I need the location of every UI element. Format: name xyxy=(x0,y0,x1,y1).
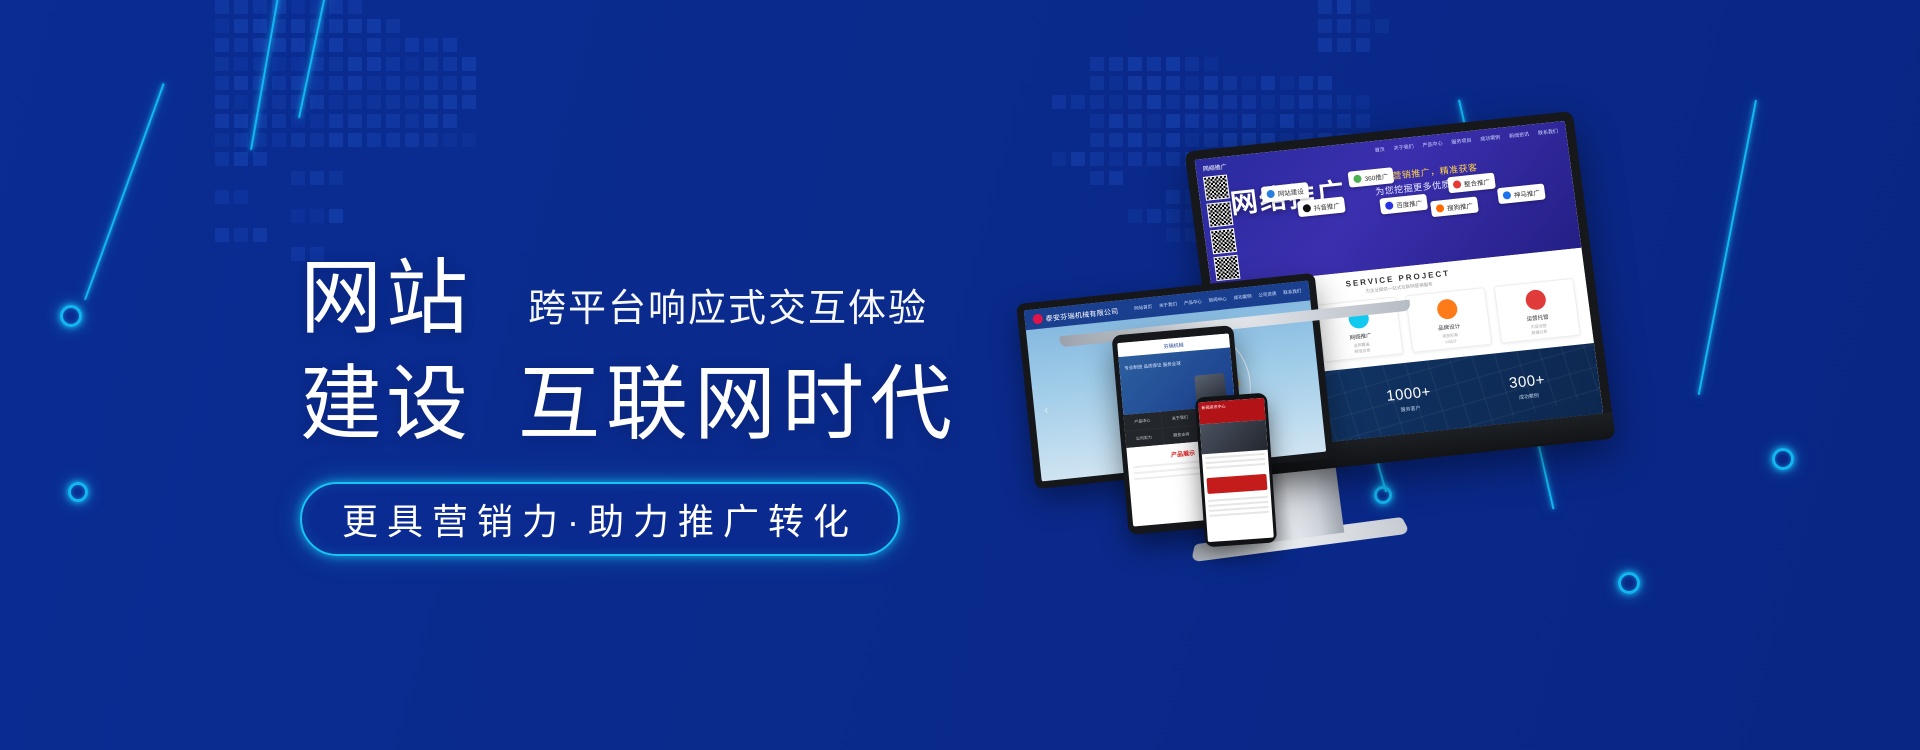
map-dot xyxy=(253,19,267,33)
platform-chip[interactable]: 整合推广 xyxy=(1447,173,1496,194)
map-dot xyxy=(367,76,381,90)
qr-code xyxy=(1213,255,1240,281)
map-dot xyxy=(272,38,286,52)
map-dot xyxy=(1318,0,1332,14)
headline-row-1: 网站 跨平台响应式交互体验 xyxy=(300,258,1060,340)
site-nav[interactable]: 首页关于我们产品中心服务项目成功案例新闻资讯联系我们 xyxy=(1374,128,1558,154)
tablet-tile[interactable]: 服务支持 xyxy=(1162,425,1200,444)
map-dot xyxy=(215,114,229,128)
map-dot xyxy=(1223,95,1237,109)
map-dot xyxy=(329,38,343,52)
phone-screen: 新闻资讯中心 xyxy=(1198,398,1274,542)
stat-value: 300+ xyxy=(1508,371,1546,392)
map-dot xyxy=(1337,38,1351,52)
map-dot xyxy=(1280,114,1294,128)
map-dot xyxy=(367,95,381,109)
map-dot xyxy=(443,95,457,109)
stat-label: 服务客户 xyxy=(1388,403,1433,415)
site-nav-item[interactable]: 首页 xyxy=(1374,146,1385,154)
phone-cta-block[interactable] xyxy=(1206,474,1267,494)
map-dot xyxy=(253,228,267,242)
qr-code xyxy=(1203,174,1230,200)
map-dot xyxy=(405,38,419,52)
map-dot xyxy=(329,19,343,33)
map-dot xyxy=(462,133,476,147)
map-dot xyxy=(1147,57,1161,71)
map-dot xyxy=(253,133,267,147)
laptop-menu-item[interactable]: 关于我们 xyxy=(1159,301,1178,309)
map-dot xyxy=(424,57,438,71)
map-dot xyxy=(329,133,343,147)
map-dot xyxy=(367,57,381,71)
tablet-tile[interactable]: 关于我们 xyxy=(1161,408,1199,427)
map-dot xyxy=(1337,95,1351,109)
map-dot xyxy=(310,19,324,33)
map-dot xyxy=(253,0,267,14)
map-dot xyxy=(1356,0,1370,14)
map-dot xyxy=(291,209,305,223)
map-dot xyxy=(253,114,267,128)
map-dot xyxy=(272,0,286,14)
map-dot xyxy=(424,76,438,90)
map-dot xyxy=(234,190,248,204)
map-dot xyxy=(272,19,286,33)
map-dot xyxy=(1356,95,1370,109)
map-dot xyxy=(386,19,400,33)
map-dot xyxy=(424,95,438,109)
phone-text-line xyxy=(1209,511,1269,517)
platform-chip-label: 神马推广 xyxy=(1513,187,1540,200)
site-nav-item[interactable]: 服务项目 xyxy=(1451,137,1472,146)
map-dot xyxy=(1147,76,1161,90)
map-dot xyxy=(443,114,457,128)
map-dot xyxy=(1204,76,1218,90)
platform-chip-icon xyxy=(1353,174,1362,183)
tagline-text: 更具营销力·助力推广转化 xyxy=(342,493,858,545)
platform-chip[interactable]: 抖音推广 xyxy=(1297,196,1346,217)
map-dot xyxy=(291,171,305,185)
map-dot xyxy=(386,76,400,90)
map-dot xyxy=(348,0,362,14)
map-dot xyxy=(1337,19,1351,33)
map-dot xyxy=(329,76,343,90)
map-dot xyxy=(253,76,267,90)
map-dot xyxy=(1204,57,1218,71)
map-dot xyxy=(329,209,343,223)
map-dot xyxy=(405,133,419,147)
map-dot xyxy=(1299,95,1313,109)
map-dot xyxy=(367,133,381,147)
tablet-hero-text: 专业制造 品质保证 服务全球 xyxy=(1124,360,1181,373)
map-dot xyxy=(1356,19,1370,33)
map-dot xyxy=(1204,114,1218,128)
map-dot xyxy=(405,114,419,128)
map-dot xyxy=(291,95,305,109)
map-dot xyxy=(1128,76,1142,90)
map-dot xyxy=(386,114,400,128)
map-dot xyxy=(1109,57,1123,71)
platform-chip-icon xyxy=(1385,201,1394,210)
map-dot xyxy=(310,114,324,128)
map-dot xyxy=(291,114,305,128)
laptop-menu-item[interactable]: 公司资质 xyxy=(1258,291,1277,299)
platform-chip-icon xyxy=(1502,191,1511,200)
map-dot xyxy=(1090,57,1104,71)
map-dot xyxy=(1261,114,1275,128)
map-dot xyxy=(310,76,324,90)
map-dot xyxy=(367,19,381,33)
map-dot xyxy=(310,171,324,185)
platform-chip-label: 百度推广 xyxy=(1396,197,1423,210)
map-dot xyxy=(1147,114,1161,128)
map-dot xyxy=(310,209,324,223)
map-dot xyxy=(234,152,248,166)
map-dot xyxy=(215,228,229,242)
map-dot xyxy=(215,133,229,147)
map-dot xyxy=(1185,76,1199,90)
map-dot xyxy=(1185,114,1199,128)
map-dot xyxy=(272,114,286,128)
phone-content-rows xyxy=(1205,493,1273,524)
map-dot xyxy=(1318,38,1332,52)
map-dot xyxy=(462,57,476,71)
map-dot xyxy=(234,57,248,71)
map-dot xyxy=(215,190,229,204)
map-dot xyxy=(1242,76,1256,90)
tablet-tile[interactable]: 公司实力 xyxy=(1125,429,1163,448)
map-dot xyxy=(443,76,457,90)
map-dot xyxy=(291,133,305,147)
map-dot xyxy=(291,19,305,33)
site-nav-item[interactable]: 产品中心 xyxy=(1422,140,1443,149)
map-dot xyxy=(1090,76,1104,90)
site-nav-item[interactable]: 成功案例 xyxy=(1480,134,1501,143)
phone-device: 新闻资讯中心 xyxy=(1195,393,1277,548)
map-dot xyxy=(348,19,362,33)
map-dot xyxy=(1052,152,1066,166)
map-dot xyxy=(1280,76,1294,90)
hero-copy: 网站 跨平台响应式交互体验 建设 互联网时代 更具营销力·助力推广转化 xyxy=(300,258,1060,556)
map-dot xyxy=(1261,76,1275,90)
map-dot xyxy=(253,152,267,166)
map-dot xyxy=(443,133,457,147)
service-card[interactable]: 品牌设计视觉形象 VI设计 xyxy=(1405,287,1492,353)
platform-chip-icon xyxy=(1453,180,1462,189)
map-dot xyxy=(424,114,438,128)
map-dot xyxy=(1261,95,1275,109)
platform-chip-icon xyxy=(1302,204,1311,213)
platform-chip-icon xyxy=(1266,190,1275,199)
map-dot xyxy=(272,95,286,109)
map-dot xyxy=(234,38,248,52)
service-card-icon xyxy=(1435,298,1458,320)
map-dot xyxy=(1166,95,1180,109)
map-dot xyxy=(1299,114,1313,128)
map-dot xyxy=(1147,95,1161,109)
platform-chip-icon xyxy=(1436,204,1445,213)
map-dot xyxy=(1166,57,1180,71)
headline-line-1: 网站 xyxy=(300,258,472,340)
laptop-menu-item[interactable]: 网站首页 xyxy=(1134,304,1153,312)
map-dot xyxy=(1128,95,1142,109)
map-dot xyxy=(215,57,229,71)
map-dot xyxy=(234,228,248,242)
qr-code xyxy=(1210,228,1237,254)
map-dot xyxy=(253,95,267,109)
stat-item: 1000+服务客户 xyxy=(1385,383,1433,414)
map-dot xyxy=(1356,114,1370,128)
map-dot xyxy=(1356,38,1370,52)
phone-image xyxy=(1200,420,1268,455)
device-mockup-cluster: 网络推广 首页关于我们产品中心服务项目成功案例新闻资讯联系我们 网络推广 全网营… xyxy=(1085,130,1515,590)
map-dot xyxy=(310,0,324,14)
map-dot xyxy=(234,0,248,14)
map-dot xyxy=(253,38,267,52)
map-dot xyxy=(1318,114,1332,128)
headline-row-2: 建设 互联网时代 xyxy=(300,364,1060,446)
map-dot xyxy=(215,0,229,14)
map-dot xyxy=(1337,114,1351,128)
hero-banner: 网站 跨平台响应式交互体验 建设 互联网时代 更具营销力·助力推广转化 网络推广… xyxy=(0,0,1920,750)
stat-item: 300+成功案例 xyxy=(1508,371,1547,402)
map-dot xyxy=(272,57,286,71)
map-dot xyxy=(1375,19,1389,33)
map-dot xyxy=(215,19,229,33)
map-dot xyxy=(1109,114,1123,128)
map-dot xyxy=(1318,76,1332,90)
map-dot xyxy=(215,76,229,90)
map-dot xyxy=(443,38,457,52)
site-nav-item[interactable]: 新闻资讯 xyxy=(1509,131,1530,140)
headline-line-2b: 互联网时代 xyxy=(518,364,958,446)
map-dot xyxy=(291,0,305,14)
map-dot xyxy=(215,95,229,109)
map-dot xyxy=(1109,95,1123,109)
map-dot xyxy=(234,95,248,109)
map-dot xyxy=(405,95,419,109)
map-dot xyxy=(348,38,362,52)
map-dot xyxy=(215,152,229,166)
map-dot xyxy=(329,57,343,71)
map-dot xyxy=(1166,76,1180,90)
map-dot xyxy=(405,76,419,90)
map-dot xyxy=(386,133,400,147)
laptop-company-name: 泰安芬瑞机械有限公司 xyxy=(1045,308,1118,323)
map-dot xyxy=(1223,114,1237,128)
map-dot xyxy=(443,57,457,71)
map-dot xyxy=(1318,19,1332,33)
map-dot xyxy=(215,38,229,52)
site-nav-item[interactable]: 联系我们 xyxy=(1538,128,1559,137)
map-dot xyxy=(291,76,305,90)
map-dot xyxy=(310,133,324,147)
qr-code xyxy=(1206,201,1233,227)
map-dot xyxy=(1128,57,1142,71)
map-dot xyxy=(329,95,343,109)
stat-value: 1000+ xyxy=(1385,383,1432,405)
map-dot xyxy=(1166,114,1180,128)
map-dot xyxy=(1109,76,1123,90)
map-dot xyxy=(1185,57,1199,71)
platform-chip-label: 360推广 xyxy=(1364,171,1389,183)
service-card[interactable]: 运营托管内容运营 数据分析 xyxy=(1493,278,1580,344)
map-dot xyxy=(310,95,324,109)
map-dot xyxy=(1242,114,1256,128)
map-dot xyxy=(367,38,381,52)
service-card-icon xyxy=(1524,289,1547,311)
map-dot xyxy=(386,38,400,52)
map-dot xyxy=(234,114,248,128)
laptop-menu-item[interactable]: 产品中心 xyxy=(1184,299,1203,307)
map-dot xyxy=(1242,95,1256,109)
map-dot xyxy=(1090,95,1104,109)
map-dot xyxy=(348,95,362,109)
headline-line-2: 建设 xyxy=(300,364,472,446)
map-dot xyxy=(1204,95,1218,109)
map-dot xyxy=(1337,0,1351,14)
map-dot xyxy=(329,0,343,14)
map-dot xyxy=(291,38,305,52)
map-dot xyxy=(367,114,381,128)
carousel-prev-icon[interactable]: ‹ xyxy=(1044,404,1049,416)
platform-chip[interactable]: 百度推广 xyxy=(1379,194,1428,215)
map-dot xyxy=(1318,95,1332,109)
map-dot xyxy=(291,57,305,71)
phone-text-line xyxy=(1206,463,1266,469)
map-dot xyxy=(1071,152,1085,166)
map-dot xyxy=(1299,76,1313,90)
platform-chip[interactable]: 神马推广 xyxy=(1497,183,1546,204)
platform-chip-label: 搜狗推广 xyxy=(1446,200,1473,213)
map-dot xyxy=(386,57,400,71)
map-dot xyxy=(1223,76,1237,90)
site-logo: 网络推广 xyxy=(1202,161,1227,172)
platform-chip-label: 网站建设 xyxy=(1277,186,1304,199)
site-nav-item[interactable]: 关于我们 xyxy=(1393,143,1414,152)
phone-bezel: 新闻资讯中心 xyxy=(1195,393,1277,548)
map-dot xyxy=(462,76,476,90)
map-dot xyxy=(405,57,419,71)
map-dot xyxy=(1071,95,1085,109)
platform-chip-label: 抖音推广 xyxy=(1313,200,1340,213)
map-dot xyxy=(424,38,438,52)
map-dot xyxy=(386,95,400,109)
map-dot xyxy=(272,133,286,147)
laptop-menu-item[interactable]: 联系我们 xyxy=(1283,288,1302,296)
map-dot xyxy=(1090,114,1104,128)
map-dot xyxy=(348,133,362,147)
platform-chip[interactable]: 搜狗推广 xyxy=(1430,196,1479,217)
map-dot xyxy=(234,133,248,147)
map-dot xyxy=(253,57,267,71)
map-dot xyxy=(1185,95,1199,109)
tablet-tile[interactable]: 产品中心 xyxy=(1123,412,1161,431)
map-dot xyxy=(1128,114,1142,128)
hero-subtitle: 跨平台响应式交互体验 xyxy=(528,277,928,340)
map-dot xyxy=(1052,95,1066,109)
laptop-menu-item[interactable]: 新闻中心 xyxy=(1209,296,1228,304)
map-dot xyxy=(1280,95,1294,109)
map-dot xyxy=(348,76,362,90)
laptop-menu-item[interactable]: 成功案例 xyxy=(1233,294,1252,302)
map-dot xyxy=(348,57,362,71)
map-dot xyxy=(310,38,324,52)
map-dot xyxy=(234,19,248,33)
map-dot xyxy=(329,171,343,185)
tagline-pill: 更具营销力·助力推广转化 xyxy=(300,482,900,556)
map-dot xyxy=(329,114,343,128)
map-dot xyxy=(462,95,476,109)
platform-chip-label: 整合推广 xyxy=(1463,176,1490,189)
map-dot xyxy=(234,76,248,90)
map-dot xyxy=(272,76,286,90)
map-dot xyxy=(348,114,362,128)
stat-label: 成功案例 xyxy=(1511,391,1548,402)
phone-content-rows xyxy=(1202,450,1269,476)
map-dot xyxy=(310,57,324,71)
map-dot xyxy=(424,133,438,147)
